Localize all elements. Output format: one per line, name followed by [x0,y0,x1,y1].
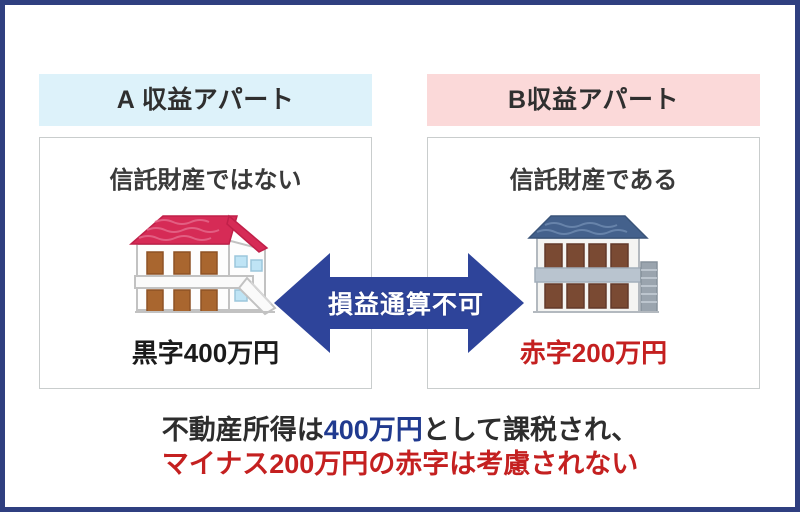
caption-line-2: マイナス200万円の赤字は考慮されない [5,447,795,481]
summary-caption: 不動産所得は400万円として課税され、 マイナス200万円の赤字は考慮されない [5,413,795,481]
diagram-canvas: A 収益アパート 信託財産ではない [0,0,800,512]
panel-b-trust-status: 信託財産である [428,160,759,195]
panel-a-trust-status: 信託財産ではない [40,160,371,195]
apartment-building-blue-roof-icon [511,204,681,324]
loss-offset-arrow: 損益通算不可 [274,249,524,357]
panel-a-header: A 収益アパート [39,74,372,126]
arrow-label: 損益通算不可 [274,249,524,357]
caption-line1-amount: 400万円 [324,415,423,445]
caption-line1-part1: 不動産所得は [162,415,324,445]
caption-line-1: 不動産所得は400万円として課税され、 [5,413,795,447]
caption-line2-text: マイナス200万円の赤字は考慮されない [162,449,639,479]
caption-line1-part3: として課税され、 [423,415,638,445]
panel-b-header: B収益アパート [427,74,760,126]
apartment-building-red-roof-icon [115,204,285,324]
